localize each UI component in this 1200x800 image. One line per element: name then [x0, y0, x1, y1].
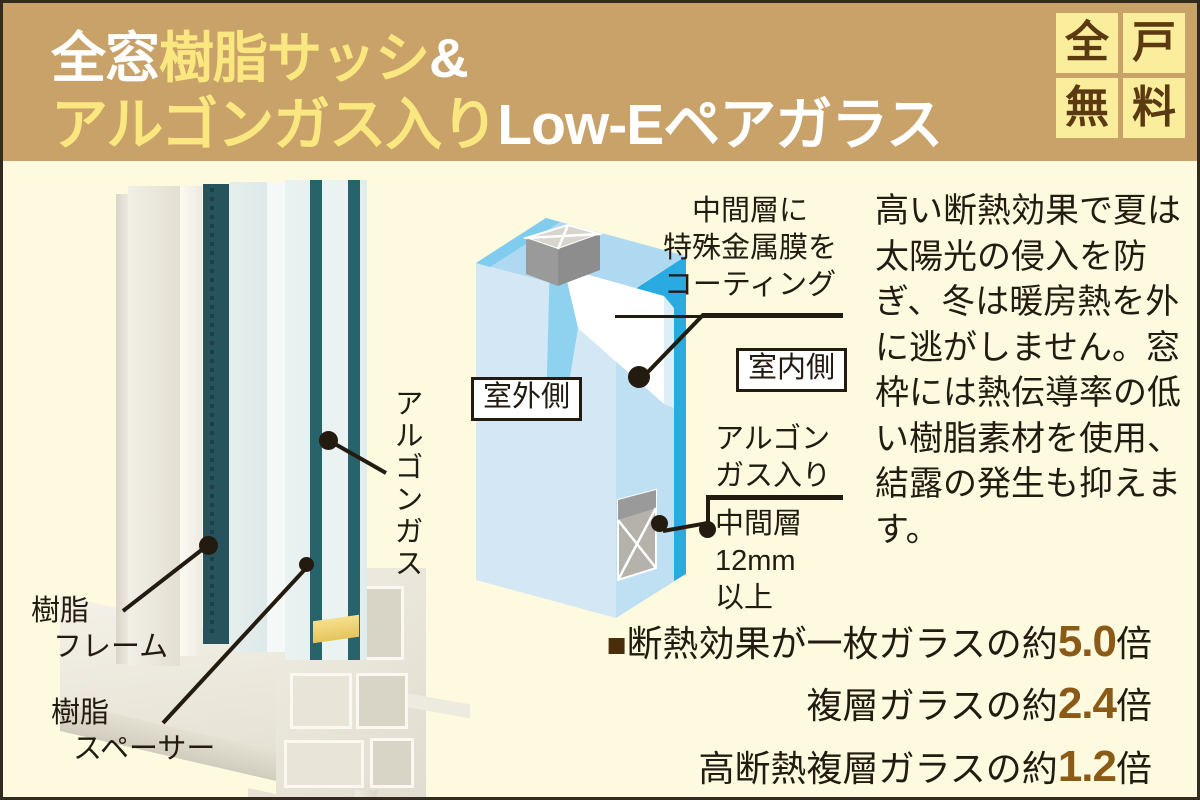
label-metal-film-coating: 中間層に 特殊金属膜を コーティング: [663, 193, 837, 304]
spacer-block-bottom: [618, 490, 656, 580]
comparison-row-3-prefix: 高断熱複層ガラスの約: [699, 748, 1058, 789]
callout-dot-argon: [319, 431, 338, 450]
label-coating-line1: 中間層に: [663, 193, 837, 230]
glass-gap: [267, 182, 285, 652]
label-outdoor-side: 室外側: [471, 377, 582, 421]
badge-cell-mu: 無: [1056, 78, 1118, 138]
comparison-row-3: 高断熱複層ガラスの約1.2倍: [3, 736, 1152, 798]
title-line-2: アルゴンガス入りLow-Eペアガラス: [51, 79, 942, 161]
badge-cell-zen: 全: [1056, 13, 1118, 73]
comparison-row-2: 複層ガラスの約2.4倍: [3, 673, 1152, 735]
free-for-all-units-badge: 全 戸 無 料: [1056, 13, 1185, 138]
comparison-row-3-value: 1.2: [1058, 742, 1116, 791]
header-banner: 全窓樹脂サッシ& アルゴンガス入りLow-Eペアガラス 全 戸 無 料: [3, 3, 1200, 161]
title-seg-5: Low-Eペアガラス: [497, 93, 942, 157]
callout-dot-coating: [628, 366, 650, 388]
callout-dot-middle-layer: [699, 521, 716, 538]
comparison-row-2-prefix: 複層ガラスの約: [807, 685, 1058, 726]
label-middle-line2: 12mm: [715, 543, 802, 580]
glass-edge-1: [310, 180, 322, 660]
label-indoor-side: 室内側: [736, 348, 847, 392]
comparison-row-1-suffix: 倍: [1116, 623, 1152, 664]
teal-spacer-channel: [203, 184, 229, 644]
description-paragraph: 高い断熱効果で夏は太陽光の侵入を防ぎ、冬は暖房熱を外に逃がしません。窓枠には熱伝…: [875, 189, 1187, 553]
glass-inner-pane-face: [664, 296, 674, 408]
comparison-row-1-prefix: 断熱効果が一枚ガラスの約: [627, 623, 1058, 664]
badge-cell-ko: 戸: [1123, 13, 1185, 73]
title-seg-4: アルゴンガス入り: [51, 93, 497, 157]
label-coating-line2: 特殊金属膜を: [663, 230, 837, 267]
glass-edge-2: [348, 180, 360, 660]
comparison-row-1-value: 5.0: [1058, 617, 1116, 666]
spacer-perforation-dots: [210, 188, 214, 638]
callout-dot-resin-frame: [199, 536, 218, 555]
frame-jamb-highlight: [180, 186, 202, 656]
infographic-page: 全窓樹脂サッシ& アルゴンガス入りLow-Eペアガラス 全 戸 無 料: [0, 0, 1200, 800]
comparison-row-2-value: 2.4: [1058, 679, 1116, 728]
rule-coating: [615, 315, 843, 318]
comparison-row-2-suffix: 倍: [1116, 685, 1152, 726]
rule-argon: [708, 497, 843, 500]
label-middle-line1: 中間層: [715, 506, 802, 543]
insulation-comparison-block: ■断熱効果が一枚ガラスの約5.0倍 複層ガラスの約2.4倍 高断熱複層ガラスの約…: [3, 611, 1178, 798]
label-coating-line3: コーティング: [663, 267, 837, 304]
label-argon-gas-vertical: アルゴンガス: [391, 388, 420, 580]
label-middle-layer-thickness: 中間層 12mm 以上: [715, 506, 802, 617]
bullet-square-icon: ■: [607, 626, 627, 663]
glass-pane-outer: [229, 182, 267, 652]
comparison-row-1: ■断熱効果が一枚ガラスの約5.0倍: [3, 611, 1152, 673]
glass-cavity: [322, 180, 348, 660]
callout-dot-resin-spacer: [299, 557, 314, 572]
badge-cell-ryo: 料: [1123, 78, 1185, 138]
comparison-row-3-suffix: 倍: [1116, 748, 1152, 789]
label-argon-gas-filled: アルゴン ガス入り: [715, 421, 831, 495]
label-argon-line2: ガス入り: [715, 458, 831, 495]
label-argon-line1: アルゴン: [715, 421, 831, 458]
callout-dot-argon-diagram: [651, 515, 668, 532]
